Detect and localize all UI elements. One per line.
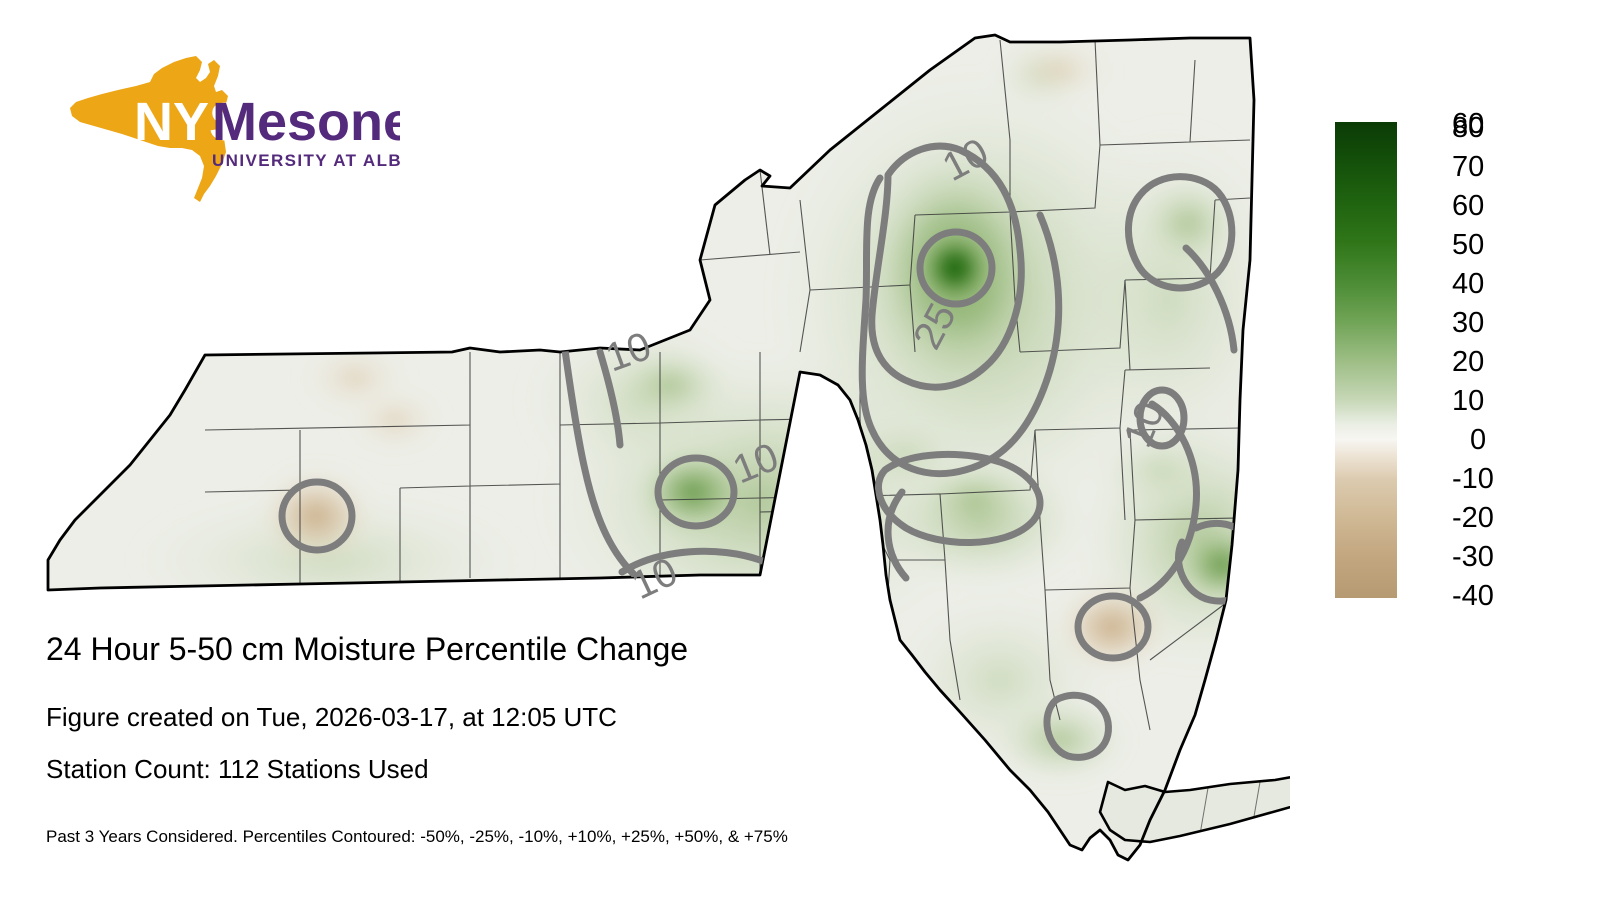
colorbar-tick: 30 [1452,309,1484,338]
colorbar-tick: 50 [1452,231,1484,260]
colorbar-tick: 0 [1470,426,1486,455]
colorbar-tick: 40 [1452,270,1484,299]
colorbar-container [1335,122,1397,598]
colorbar-tick: -40 [1452,582,1494,611]
nys-mesonet-logo: NYS Mesonet UNIVERSITY AT ALBANY [50,52,400,207]
colorbar-tick: 10 [1452,387,1484,416]
figure-footnote: Past 3 Years Considered. Percentiles Con… [46,827,788,847]
figure-title: 24 Hour 5-50 cm Moisture Percentile Chan… [46,630,688,668]
logo-mesonet-text: Mesonet [212,92,400,152]
colorbar-tick: 60 [1452,110,1484,139]
colorbar-tick: -30 [1452,543,1494,572]
figure-created-at: Figure created on Tue, 2026-03-17, at 12… [46,702,617,732]
colorbar-tick: 20 [1452,348,1484,377]
colorbar-gradient [1335,122,1397,598]
colorbar-tick: 70 [1452,153,1484,182]
figure-canvas: 10 25 10 10 10 10 NYS Mesonet UNIVERSITY… [0,0,1600,900]
logo-svg: NYS Mesonet UNIVERSITY AT ALBANY [50,52,400,207]
colorbar-tick-labels: 80 70 60 60 50 40 30 20 10 0 -10 -20 -30… [1452,110,1572,610]
colorbar-tick: 60 [1452,192,1484,221]
colorbar-tick: -10 [1452,465,1494,494]
logo-subtitle-text: UNIVERSITY AT ALBANY [212,151,400,170]
station-count: Station Count: 112 Stations Used [46,754,429,784]
colorbar-tick: -20 [1452,504,1494,533]
